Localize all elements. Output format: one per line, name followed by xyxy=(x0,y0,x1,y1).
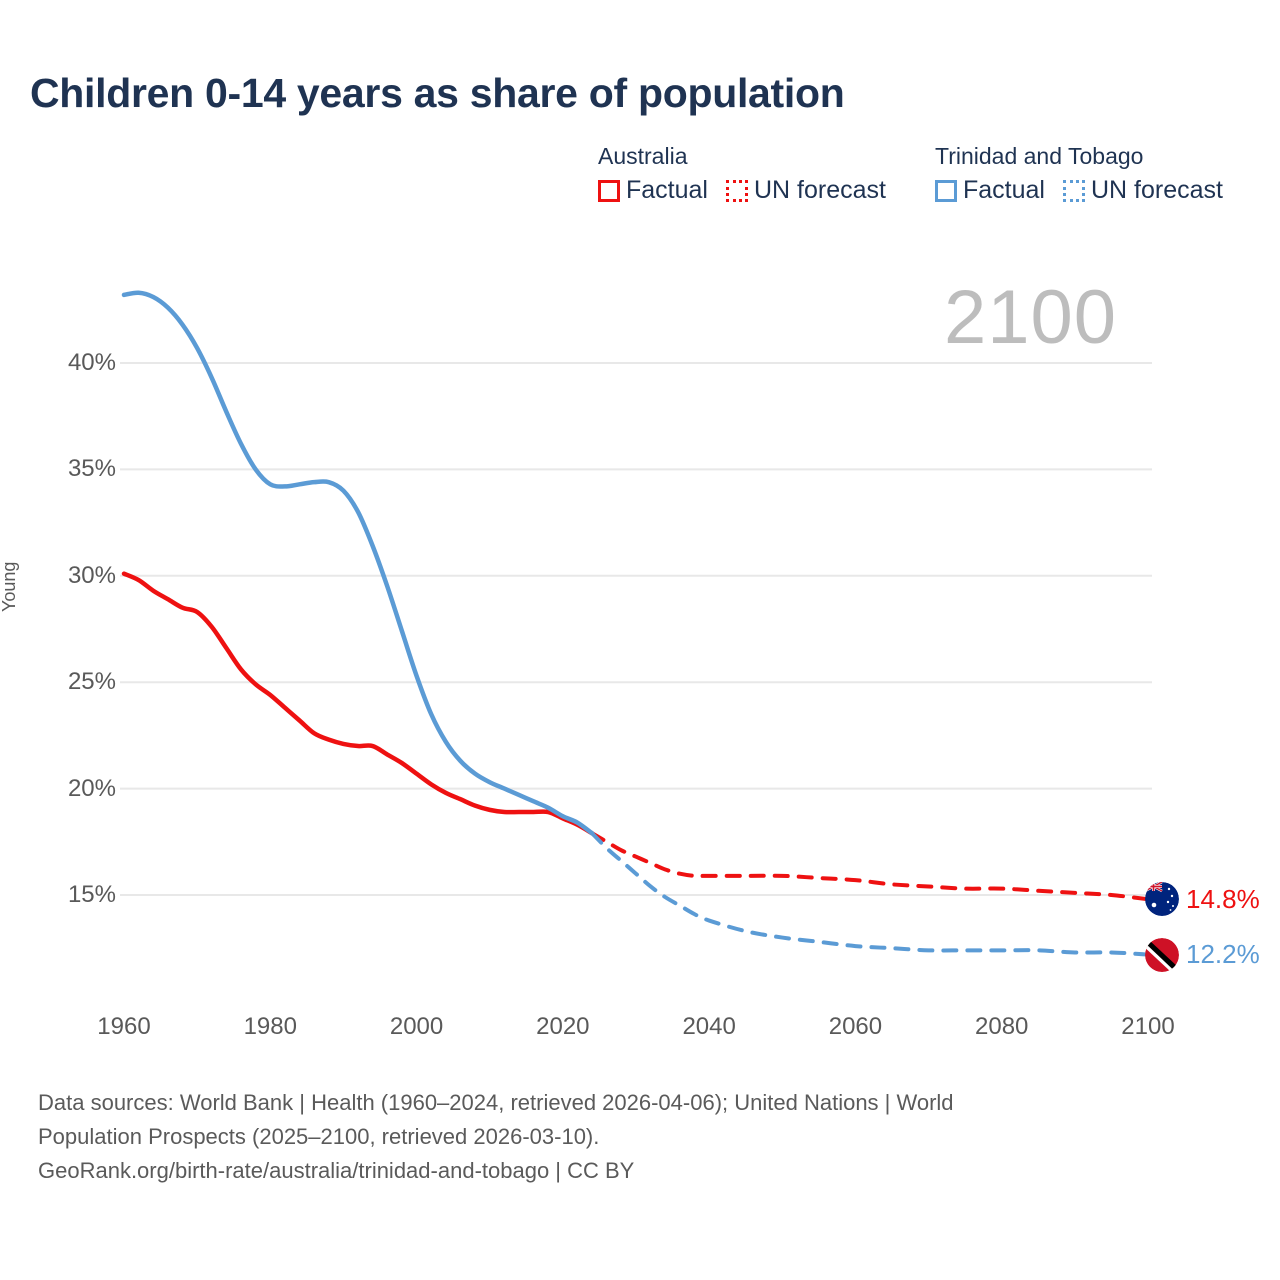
trinidad-and-tobago-flag-icon xyxy=(1145,938,1179,972)
series-line-trinidad-and-tobago-factual xyxy=(124,293,592,834)
chart-container: Children 0-14 years as share of populati… xyxy=(0,0,1280,1280)
footer-line-2: Population Prospects (2025–2100, retriev… xyxy=(38,1120,1218,1154)
x-tick-label: 2080 xyxy=(952,1013,1052,1041)
footer-line-3[interactable]: GeoRank.org/birth-rate/australia/trinida… xyxy=(38,1154,1218,1188)
x-tick-label: 2000 xyxy=(367,1013,467,1041)
x-tick-label: 2020 xyxy=(513,1013,613,1041)
x-tick-label: 1980 xyxy=(220,1013,320,1041)
x-tick-label: 2040 xyxy=(659,1013,759,1041)
series-lines xyxy=(124,293,1148,955)
y-tick-label: 35% xyxy=(36,455,116,483)
x-tick-label: 2100 xyxy=(1098,1013,1198,1041)
series-end-value: 12.2% xyxy=(1186,939,1260,970)
footer-line-1: Data sources: World Bank | Health (1960–… xyxy=(38,1086,1218,1120)
series-end-marker: 12.2% xyxy=(1145,938,1260,972)
x-tick-label: 1960 xyxy=(74,1013,174,1041)
y-axis-title: Young xyxy=(0,562,20,612)
y-tick-label: 20% xyxy=(36,775,116,803)
footer: Data sources: World Bank | Health (1960–… xyxy=(38,1086,1218,1188)
series-end-marker: 14.8% xyxy=(1145,882,1260,916)
y-tick-label: 15% xyxy=(36,881,116,909)
series-end-value: 14.8% xyxy=(1186,884,1260,915)
x-tick-label: 2060 xyxy=(805,1013,905,1041)
y-tick-label: 40% xyxy=(36,349,116,377)
y-tick-label: 30% xyxy=(36,562,116,590)
gridlines xyxy=(120,363,1152,895)
australia-flag-icon xyxy=(1145,882,1179,916)
series-line-australia-forecast xyxy=(592,833,1148,899)
y-tick-label: 25% xyxy=(36,668,116,696)
